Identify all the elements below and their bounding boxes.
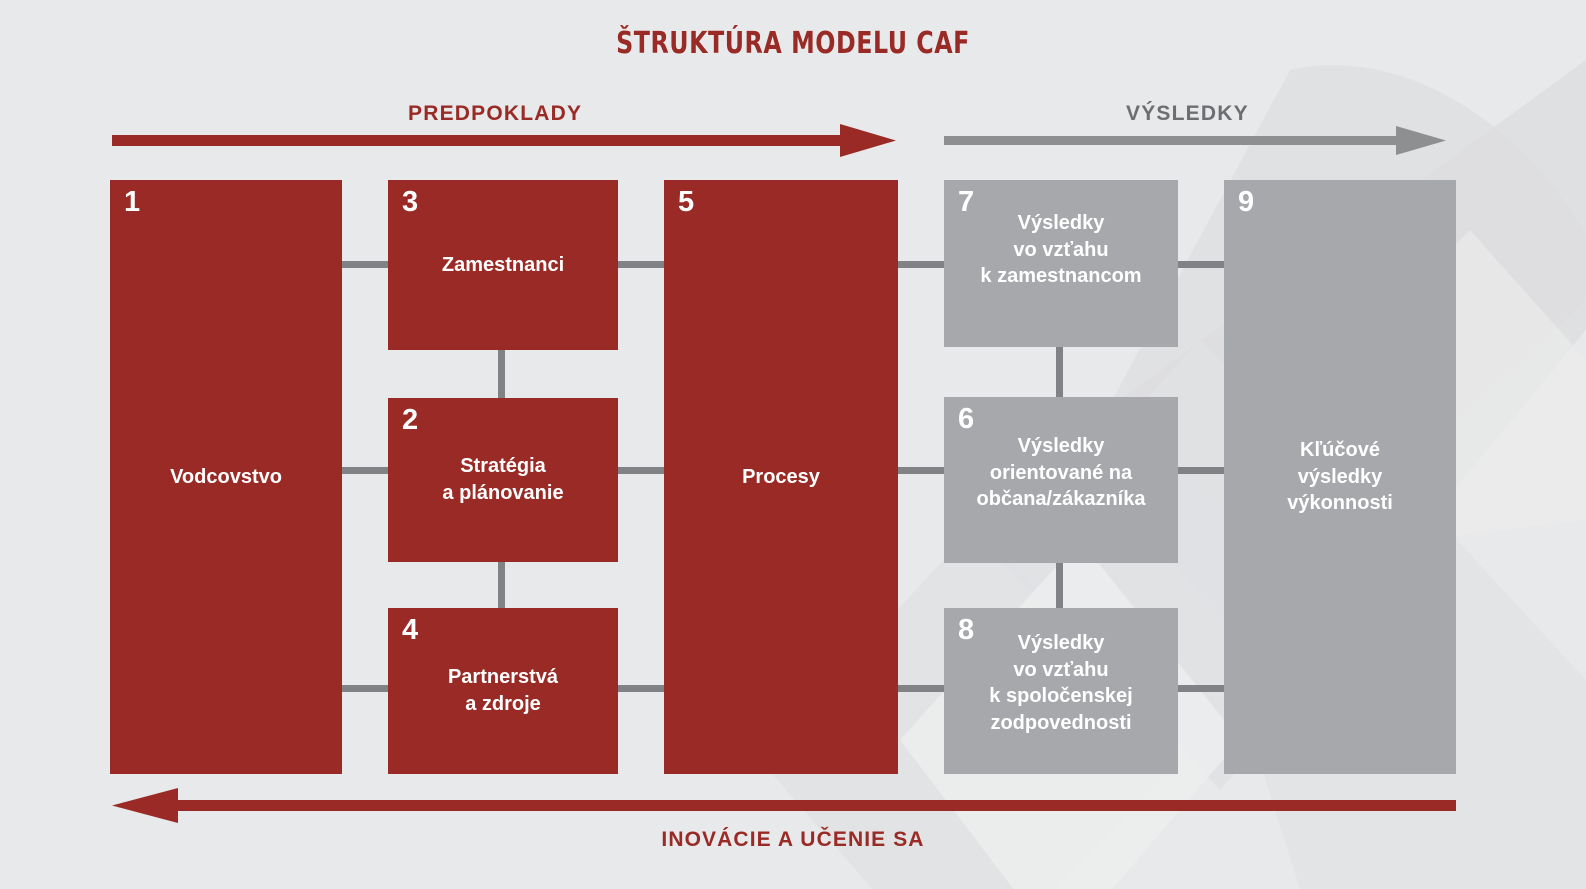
band-label-innovation: INOVÁCIE A UČENIE SA bbox=[0, 828, 1586, 852]
top-arrows bbox=[0, 120, 1586, 166]
node-9-klucove-vysledky-vykonnosti[interactable]: 9 Kľúčové výsledky výkonnosti bbox=[1224, 180, 1456, 774]
node-number: 2 bbox=[402, 406, 418, 435]
connector-3-5 bbox=[618, 261, 664, 268]
connector-5-8 bbox=[898, 685, 944, 692]
innovation-arrow bbox=[0, 782, 1586, 832]
connector-2-5 bbox=[618, 467, 664, 474]
node-number: 3 bbox=[402, 188, 418, 217]
node-label: Partnerstvá a zdroje bbox=[388, 664, 618, 717]
connector-1-3 bbox=[342, 261, 388, 268]
results-arrow-icon bbox=[944, 126, 1446, 155]
node-label: Zamestnanci bbox=[388, 252, 618, 279]
connector-3-2 bbox=[498, 350, 505, 398]
page-title: ŠTRUKTÚRA MODELU CAF bbox=[95, 26, 1491, 61]
node-number: 1 bbox=[124, 188, 140, 217]
node-label: Výsledky vo vzťahu k zamestnancom bbox=[944, 210, 1178, 290]
caf-model-diagram: ŠTRUKTÚRA MODELU CAF PREDPOKLADY VÝSLEDK… bbox=[0, 0, 1586, 889]
node-number: 7 bbox=[958, 188, 974, 217]
connector-5-7 bbox=[898, 261, 944, 268]
connector-7-6 bbox=[1056, 347, 1063, 397]
node-number: 6 bbox=[958, 405, 974, 434]
node-1-vodcovstvo[interactable]: 1 Vodcovstvo bbox=[110, 180, 342, 774]
node-4-partnerstva-a-zdroje[interactable]: 4 Partnerstvá a zdroje bbox=[388, 608, 618, 774]
connector-8-9 bbox=[1178, 685, 1224, 692]
band-label-enablers: PREDPOKLADY bbox=[408, 102, 582, 126]
node-label: Výsledky orientované na občana/zákazníka bbox=[944, 433, 1178, 513]
node-label: Vodcovstvo bbox=[110, 464, 342, 491]
connector-4-5 bbox=[618, 685, 664, 692]
node-number: 4 bbox=[402, 616, 418, 645]
node-6-vysledky-orientovane-na-obcana-zakaznika[interactable]: 6 Výsledky orientované na občana/zákazní… bbox=[944, 397, 1178, 563]
node-label: Kľúčové výsledky výkonnosti bbox=[1224, 437, 1456, 517]
innovation-arrow-icon bbox=[112, 788, 1456, 823]
connector-2-4 bbox=[498, 562, 505, 608]
enablers-arrow-icon bbox=[112, 124, 896, 157]
node-label: Stratégia a plánovanie bbox=[388, 453, 618, 506]
band-label-results: VÝSLEDKY bbox=[1126, 102, 1249, 126]
connector-5-6 bbox=[898, 467, 944, 474]
connector-7-9 bbox=[1178, 261, 1224, 268]
node-label: Procesy bbox=[664, 464, 898, 491]
node-2-strategia-a-planovanie[interactable]: 2 Stratégia a plánovanie bbox=[388, 398, 618, 562]
node-7-vysledky-vo-vztahu-k-zamestnancom[interactable]: 7 Výsledky vo vzťahu k zamestnancom bbox=[944, 180, 1178, 347]
connector-6-8 bbox=[1056, 563, 1063, 608]
connector-6-9 bbox=[1178, 467, 1224, 474]
node-number: 9 bbox=[1238, 188, 1254, 217]
node-3-zamestnanci[interactable]: 3 Zamestnanci bbox=[388, 180, 618, 350]
node-number: 8 bbox=[958, 616, 974, 645]
node-8-vysledky-vo-vztahu-k-spolocenskej-zodpovednosti[interactable]: 8 Výsledky vo vzťahu k spoločenskej zodp… bbox=[944, 608, 1178, 774]
node-5-procesy[interactable]: 5 Procesy bbox=[664, 180, 898, 774]
node-label: Výsledky vo vzťahu k spoločenskej zodpov… bbox=[944, 630, 1178, 736]
connector-1-4 bbox=[342, 685, 388, 692]
node-number: 5 bbox=[678, 188, 694, 217]
connector-1-2 bbox=[342, 467, 388, 474]
